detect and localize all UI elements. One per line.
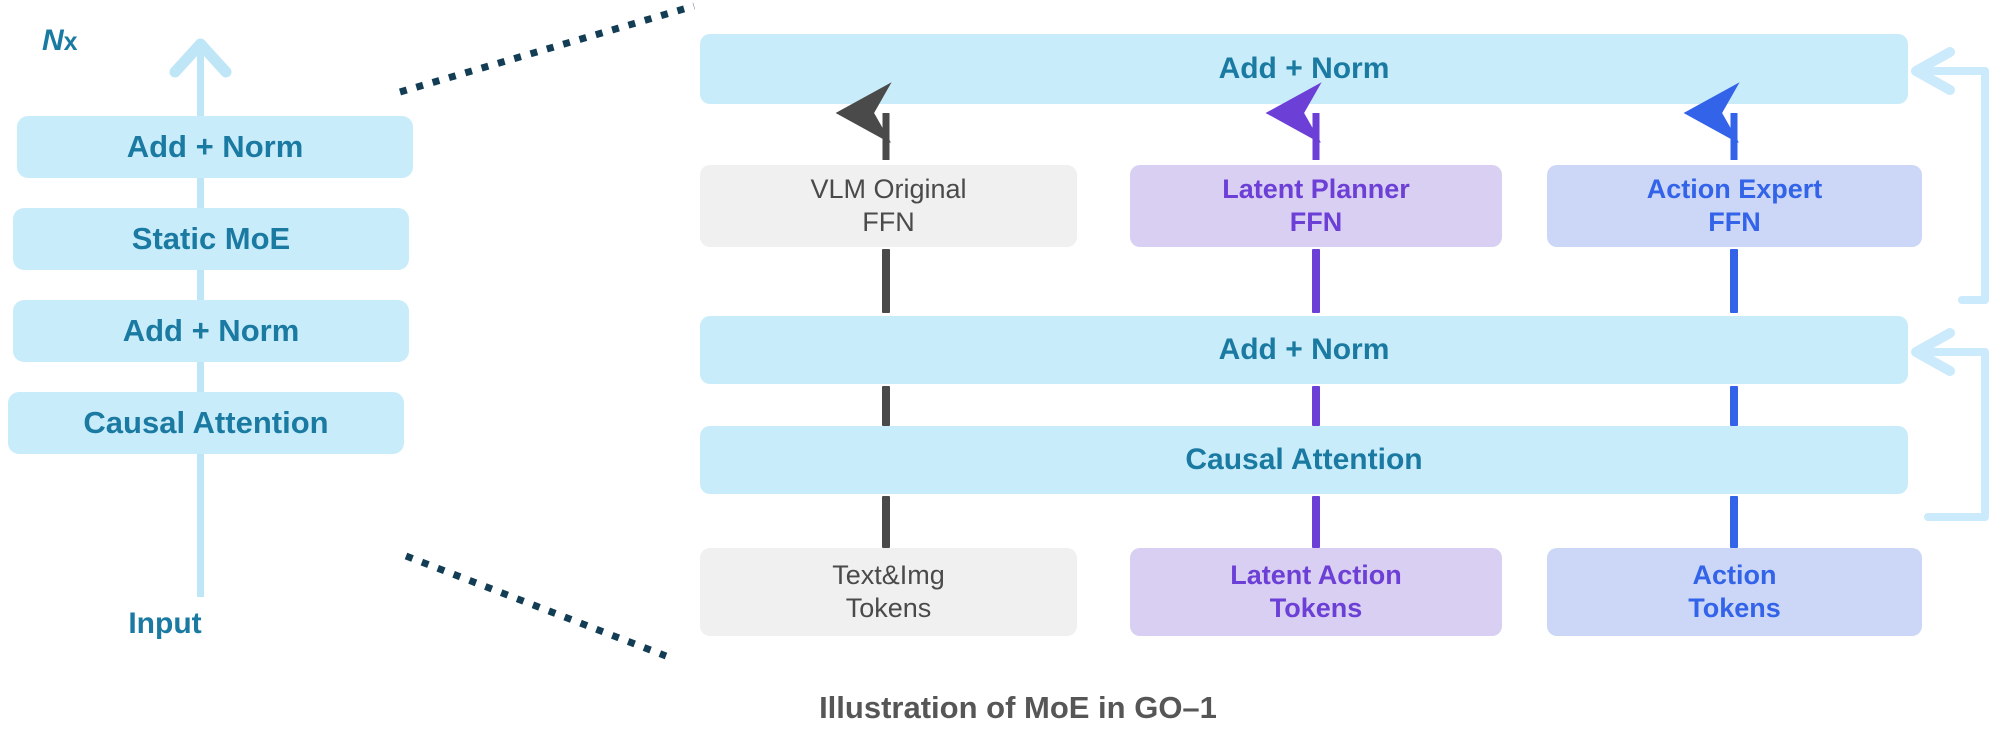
- token-box-latent-action[interactable]: Latent Action Tokens: [1130, 548, 1502, 636]
- figure-canvas: Nx Add + Norm Static MoE Add + Norm Caus…: [0, 0, 2014, 748]
- connector-latent-action-tokens-up: [1312, 496, 1320, 548]
- ffn-box-latent-planner[interactable]: Latent Planner FFN: [1130, 165, 1502, 247]
- ffn-box-vlm-original[interactable]: VLM Original FFN: [700, 165, 1077, 247]
- connector-vlm-ffn-down: [882, 249, 890, 313]
- left-block-add-norm-bottom[interactable]: Add + Norm: [13, 300, 409, 362]
- connector-action-ffn-down: [1730, 249, 1738, 313]
- left-spine-bottom: [197, 452, 204, 597]
- figure-caption: Illustration of MoE in GO–1: [543, 690, 1493, 726]
- right-add-norm-mid[interactable]: Add + Norm: [700, 316, 1908, 384]
- connector-text-img-tokens-up: [882, 496, 890, 548]
- left-block-add-norm-top[interactable]: Add + Norm: [17, 116, 413, 178]
- ffn-box-action-expert[interactable]: Action Expert FFN: [1547, 165, 1922, 247]
- token-box-text-img[interactable]: Text&Img Tokens: [700, 548, 1077, 636]
- left-spine-top: [197, 50, 204, 120]
- input-label: Input: [95, 607, 235, 641]
- repeat-count-label: Nx: [42, 24, 78, 58]
- right-add-norm-top[interactable]: Add + Norm: [700, 34, 1908, 104]
- token-box-action[interactable]: Action Tokens: [1547, 548, 1922, 636]
- residual-connection-upper: [1916, 52, 1985, 300]
- left-block-causal-attention[interactable]: Causal Attention: [8, 392, 404, 454]
- residual-connection-lower: [1916, 333, 1985, 517]
- connector-latent-mid-attn: [1312, 386, 1320, 426]
- callout-connector-bottom: [406, 556, 666, 656]
- connector-vlm-mid-attn: [882, 386, 890, 426]
- connector-action-mid-attn: [1730, 386, 1738, 426]
- connector-action-tokens-up: [1730, 496, 1738, 548]
- repeat-count-x: x: [64, 28, 78, 56]
- repeat-count-n: N: [42, 24, 64, 57]
- left-block-static-moe[interactable]: Static MoE: [13, 208, 409, 270]
- connector-latent-ffn-down: [1312, 249, 1320, 313]
- right-causal-attention[interactable]: Causal Attention: [700, 426, 1908, 494]
- callout-connector-top: [400, 6, 694, 92]
